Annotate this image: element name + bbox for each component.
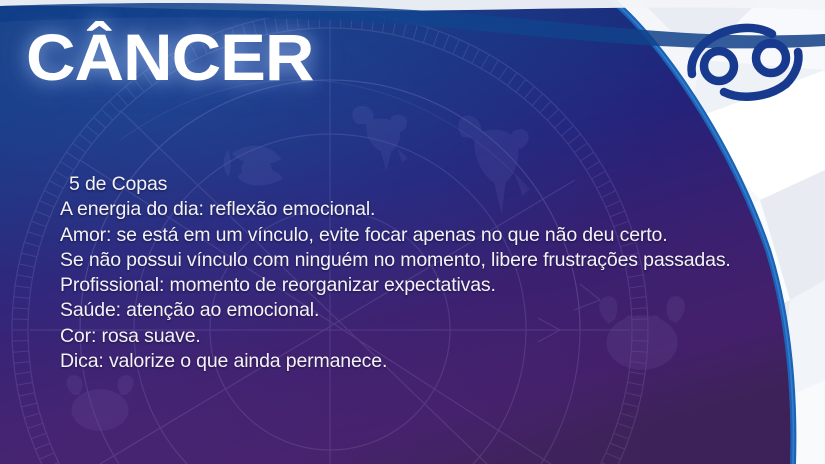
horoscope-card: CÂNCER 5 de Copas A energia do dia: refl…	[0, 0, 825, 464]
zodiac-figure-left	[53, 375, 148, 438]
energy-line: A energia do dia: reflexão emocional.	[60, 197, 760, 222]
professional-line: Profissional: momento de reorganizar exp…	[60, 273, 760, 298]
tip-line: Dica: valorize o que ainda permanece.	[60, 349, 760, 374]
aries-figure	[352, 106, 407, 171]
tarot-card-line: 5 de Copas	[60, 172, 760, 197]
horoscope-text-block: 5 de Copas A energia do dia: reflexão em…	[60, 172, 760, 374]
health-line: Saúde: atenção ao emocional.	[60, 298, 760, 323]
love-line: Amor: se está em um vínculo, evite focar…	[60, 223, 760, 248]
color-line: Cor: rosa suave.	[60, 324, 760, 349]
single-love-line: Se não possui vínculo com ninguém no mom…	[60, 248, 760, 273]
sign-title: CÂNCER	[26, 24, 313, 90]
